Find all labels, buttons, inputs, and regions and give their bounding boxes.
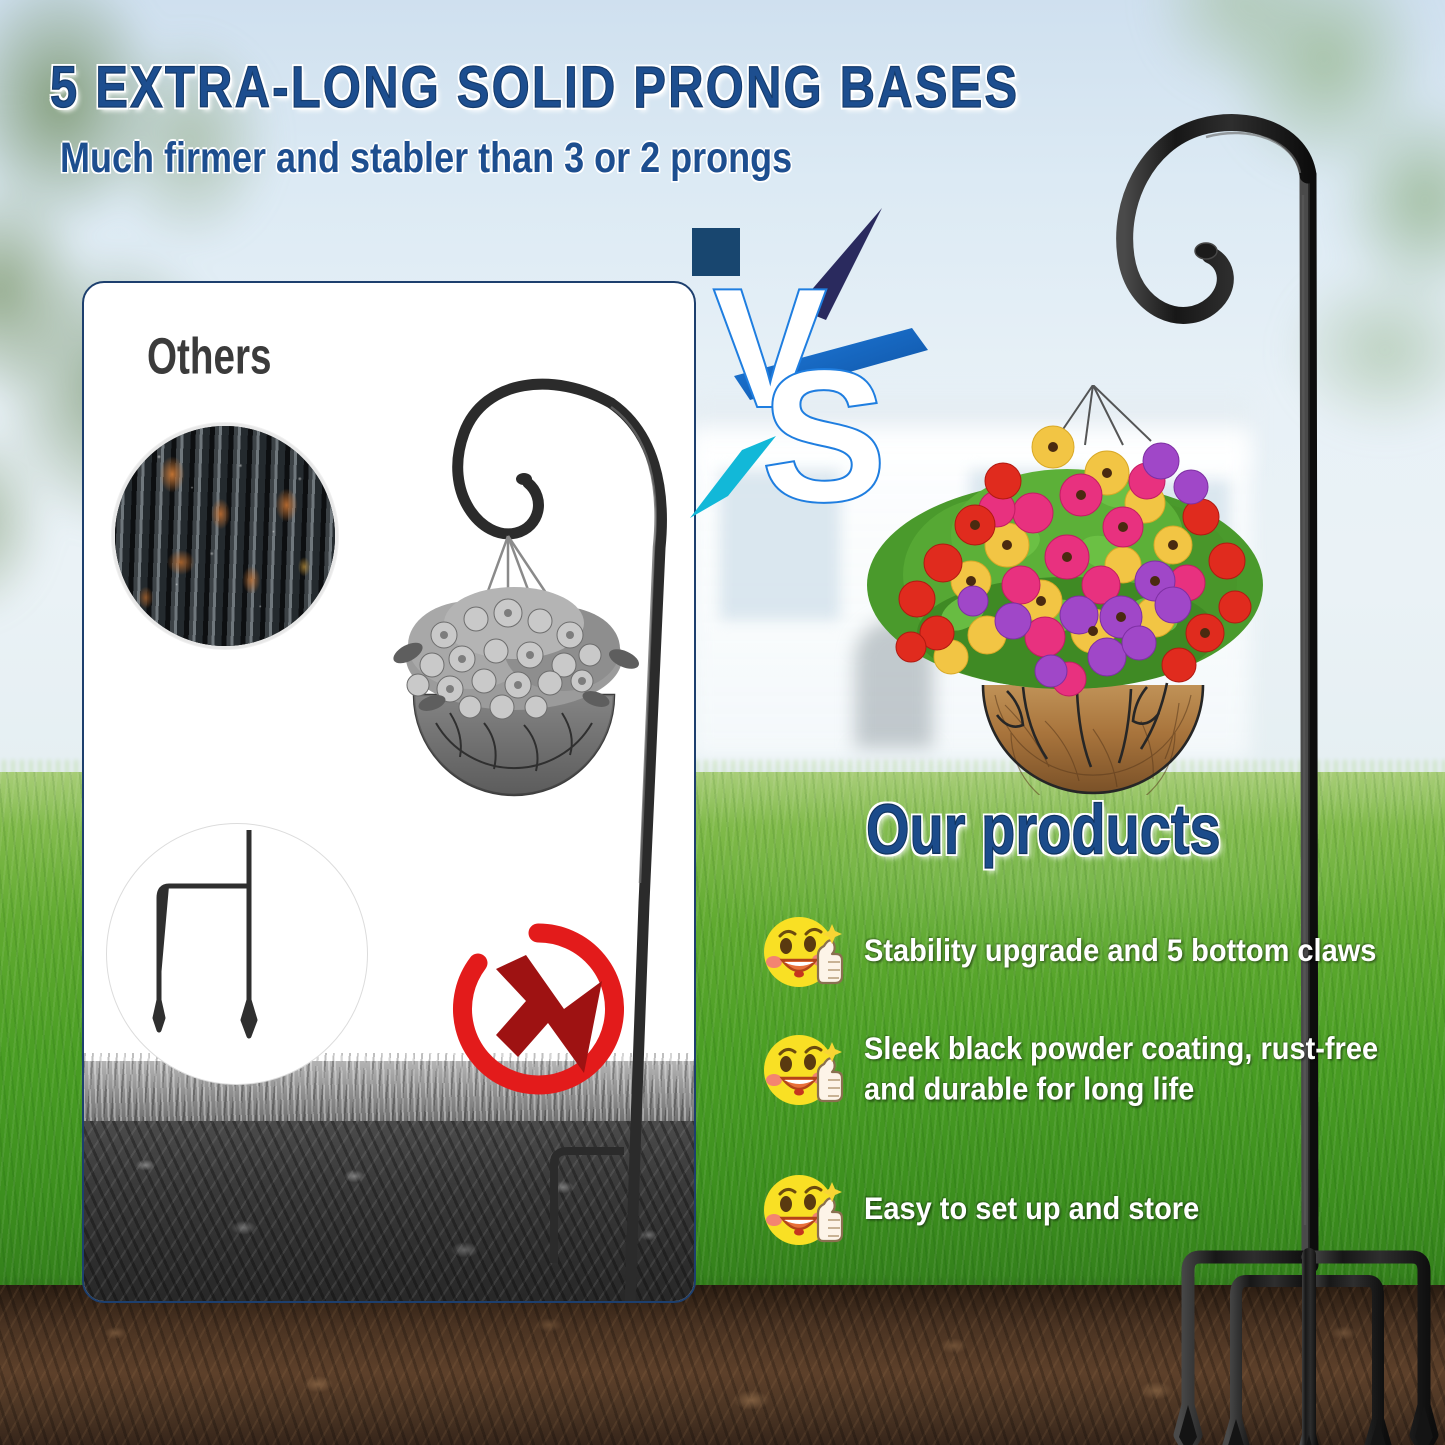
page-subtitle: Much firmer and stabler than 3 or 2 pron…: [60, 133, 792, 183]
thumbs-up-hand: [818, 1198, 842, 1241]
feature-item: Sleek black powder coating, rust-free an…: [762, 1028, 1378, 1112]
thumbs-up-hand: [818, 1058, 842, 1101]
feature-label: Sleek black powder coating, rust-free an…: [864, 1029, 1378, 1111]
thumbs-up-hand: [818, 940, 842, 983]
versus-badge: V S: [676, 200, 946, 520]
our-products-title: Our products: [866, 788, 1221, 870]
page-title: 5 EXTRA-LONG SOLID PRONG BASES: [50, 52, 1019, 121]
smiley-thumbs-up-emoji: [762, 1168, 846, 1252]
vs-letter-s: S: [762, 333, 886, 520]
others-shepherd-hook: [84, 283, 696, 1303]
smiley-thumbs-up-emoji: [762, 910, 846, 994]
feature-label: Stability upgrade and 5 bottom claws: [864, 932, 1376, 973]
smiley-thumbs-up-emoji: [762, 1028, 846, 1112]
accent-square: [692, 228, 740, 276]
feature-label: Easy to set up and store: [864, 1190, 1199, 1231]
feature-item: Stability upgrade and 5 bottom claws: [762, 910, 1376, 994]
grayscale-flowers: [390, 587, 642, 719]
others-comparison-panel: Others: [82, 281, 696, 1303]
feature-item: Easy to set up and store: [762, 1168, 1199, 1252]
